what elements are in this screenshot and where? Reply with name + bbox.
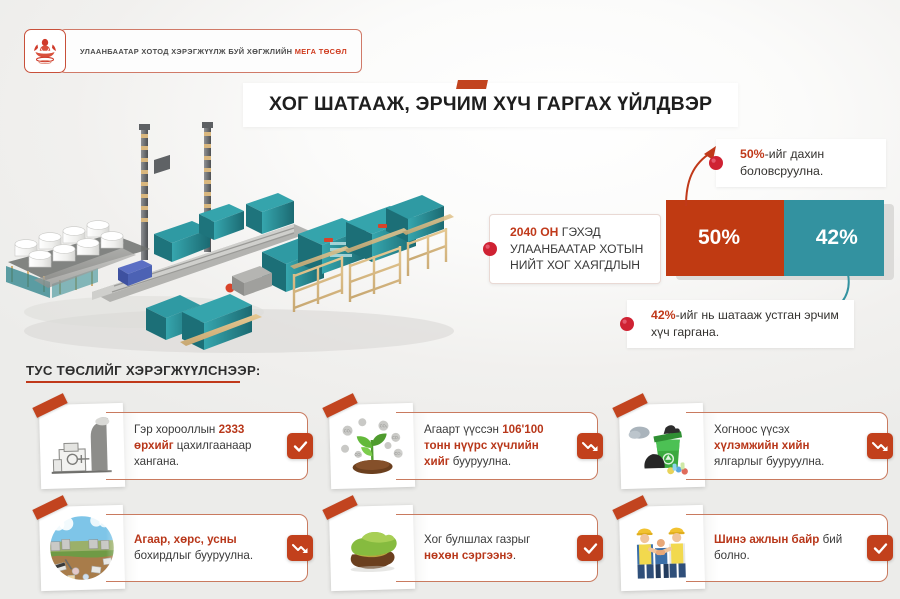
ulaanbaatar-city-emblem-icon (24, 29, 66, 73)
benefit-card-bubble: Агаарт үүссэн 106'100 тонн нүүрс хүчлийн… (396, 412, 598, 480)
page-title: ХОГ ШАТААЖ, ЭРЧИМ ХҮЧ ГАРГАХ ҮЙЛДВЭР (269, 93, 712, 116)
title-tape-decoration (456, 80, 488, 89)
trend-down-badge-icon (287, 535, 313, 561)
benefit-text-strong: нөхөн сэргээнэ (424, 549, 513, 562)
benefit-card[interactable]: Гэр хорооллын 2333 өрхийг цахилгаанаар х… (24, 398, 308, 494)
bar-segment-recycle: 50% (666, 200, 784, 276)
benefit-card-bubble: Агаар, хөрс, усны бохирдлыг бууруулна. (106, 514, 308, 582)
benefit-text-pre: Гэр хорооллын (134, 423, 219, 436)
check-badge-icon (867, 535, 893, 561)
callout-recycle: 50%-ийг дахин боловсруулна. (716, 139, 886, 187)
benefit-card[interactable]: CO₂CO₂ CO₂CO₂CO₂ Агаарт үүссэн 106'100 т… (314, 398, 598, 494)
header-text-plain: УЛААНБААТАР ХОТОД ХЭРЭГЖҮҮЛЖ БУЙ ХӨГЖЛИЙ… (80, 47, 295, 56)
check-badge-icon (287, 433, 313, 459)
benefit-card-bubble: Хог булшлах газрыг нөхөн сэргээнэ. (396, 514, 598, 582)
benefit-card[interactable]: Хог булшлах газрыг нөхөн сэргээнэ. (314, 500, 598, 596)
benefit-card-text: Хогноос үүсэх хүлэмжийн хийн ялгарлыг бу… (714, 422, 857, 469)
callout-2040-target: 2040 ОН ГЭХЭД УЛААНБААТАР ХОТЫН НИЙТ ХОГ… (489, 214, 661, 284)
header-banner: УЛААНБААТАР ХОТОД ХЭРЭГЖҮҮЛЖ БУЙ ХӨГЖЛИЙ… (59, 29, 362, 73)
benefit-card-bubble: Хогноос үүсэх хүлэмжийн хийн ялгарлыг бу… (686, 412, 888, 480)
svg-text:CO₂: CO₂ (354, 452, 362, 457)
pin-marker-icon (708, 155, 724, 171)
benefit-text-strong: Шинэ ажлын байр (714, 533, 819, 546)
trend-down-badge-icon (867, 433, 893, 459)
benefit-card[interactable]: Хогноос үүсэх хүлэмжийн хийн ялгарлыг бу… (604, 398, 888, 494)
benefit-card-bubble: Гэр хорооллын 2333 өрхийг цахилгаанаар х… (106, 412, 308, 480)
callout-incinerate-strong: 42% (651, 308, 676, 322)
bar-segment-incinerate-label: 42% (784, 226, 858, 250)
infographic-page: УЛААНБААТАР ХОТОД ХЭРЭГЖҮҮЛЖ БУЙ ХӨГЖЛИЙ… (0, 0, 900, 599)
benefit-text-pre: Агаарт үүссэн (424, 423, 502, 436)
benefit-text-post: ялгарлыг бууруулна. (714, 455, 824, 468)
benefits-section-header: ТУС ТӨСЛИЙГ ХЭРЭГЖҮҮЛСНЭЭР: (26, 363, 261, 383)
benefit-text-strong: Агаар, хөрс, усны (134, 533, 237, 546)
header-banner-text: УЛААНБААТАР ХОТОД ХЭРЭГЖҮҮЛЖ БУЙ ХӨГЖЛИЙ… (80, 47, 347, 56)
callout-2040-text: 2040 ОН ГЭХЭД УЛААНБААТАР ХОТЫН НИЙТ ХОГ… (510, 224, 652, 274)
benefit-text-pre: Хог булшлах газрыг (424, 533, 530, 546)
bar-segment-incinerate: 42% (784, 200, 884, 276)
pin-marker-icon (482, 241, 498, 257)
check-badge-icon (577, 535, 603, 561)
benefit-text-strong: хүлэмжийн хийн (714, 439, 810, 452)
header-badge: УЛААНБААТАР ХОТОД ХЭРЭГЖҮҮЛЖ БУЙ ХӨГЖЛИЙ… (24, 29, 362, 73)
callout-recycle-strong: 50% (740, 147, 765, 161)
waste-split-bar: 50% 42% (666, 200, 884, 276)
benefits-section-rule (26, 381, 240, 383)
callout-incinerate-rest: -ийг нь шатааж устган эрчим хүч гаргана. (651, 308, 839, 339)
benefit-card[interactable]: Шинэ ажлын байр бий болно. (604, 500, 888, 596)
callout-2040-strong: 2040 ОН (510, 225, 558, 239)
svg-text:CO₂: CO₂ (344, 428, 352, 433)
callout-incinerate: 42%-ийг нь шатааж устган эрчим хүч гарга… (627, 300, 854, 348)
benefit-card-text: Агаарт үүссэн 106'100 тонн нүүрс хүчлийн… (424, 422, 567, 469)
benefit-text-post: . (513, 549, 516, 562)
trend-down-badge-icon (577, 433, 603, 459)
main-title-box: ХОГ ШАТААЖ, ЭРЧИМ ХҮЧ ГАРГАХ ҮЙЛДВЭР (243, 83, 738, 127)
bar-segment-recycle-label: 50% (666, 226, 740, 250)
benefit-card-text: Агаар, хөрс, усны бохирдлыг бууруулна. (134, 532, 277, 564)
callout-recycle-text: 50%-ийг дахин боловсруулна. (740, 146, 878, 180)
svg-text:CO₂: CO₂ (380, 423, 388, 428)
benefit-text-pre: Хогноос үүсэх (714, 423, 790, 436)
header-text-accent: МЕГА ТӨСӨЛ (295, 47, 347, 56)
benefit-text-post: бууруулна. (450, 455, 512, 468)
benefit-card-text: Гэр хорооллын 2333 өрхийг цахилгаанаар х… (134, 422, 277, 469)
benefits-section-label: ТУС ТӨСЛИЙГ ХЭРЭГЖҮҮЛСНЭЭР: (26, 363, 261, 378)
benefit-card[interactable]: Агаар, хөрс, усны бохирдлыг бууруулна. (24, 500, 308, 596)
pin-marker-icon (619, 316, 635, 332)
benefit-card-text: Шинэ ажлын байр бий болно. (714, 532, 857, 564)
plant-illustration (0, 116, 464, 362)
main-title-block: ХОГ ШАТААЖ, ЭРЧИМ ХҮЧ ГАРГАХ ҮЙЛДВЭР (243, 83, 738, 127)
benefit-card-bubble: Шинэ ажлын байр бий болно. (686, 514, 888, 582)
callout-incinerate-text: 42%-ийг нь шатааж устган эрчим хүч гарга… (651, 307, 846, 341)
benefit-card-text: Хог булшлах газрыг нөхөн сэргээнэ. (424, 532, 567, 564)
benefit-text-post: бохирдлыг бууруулна. (134, 549, 253, 562)
